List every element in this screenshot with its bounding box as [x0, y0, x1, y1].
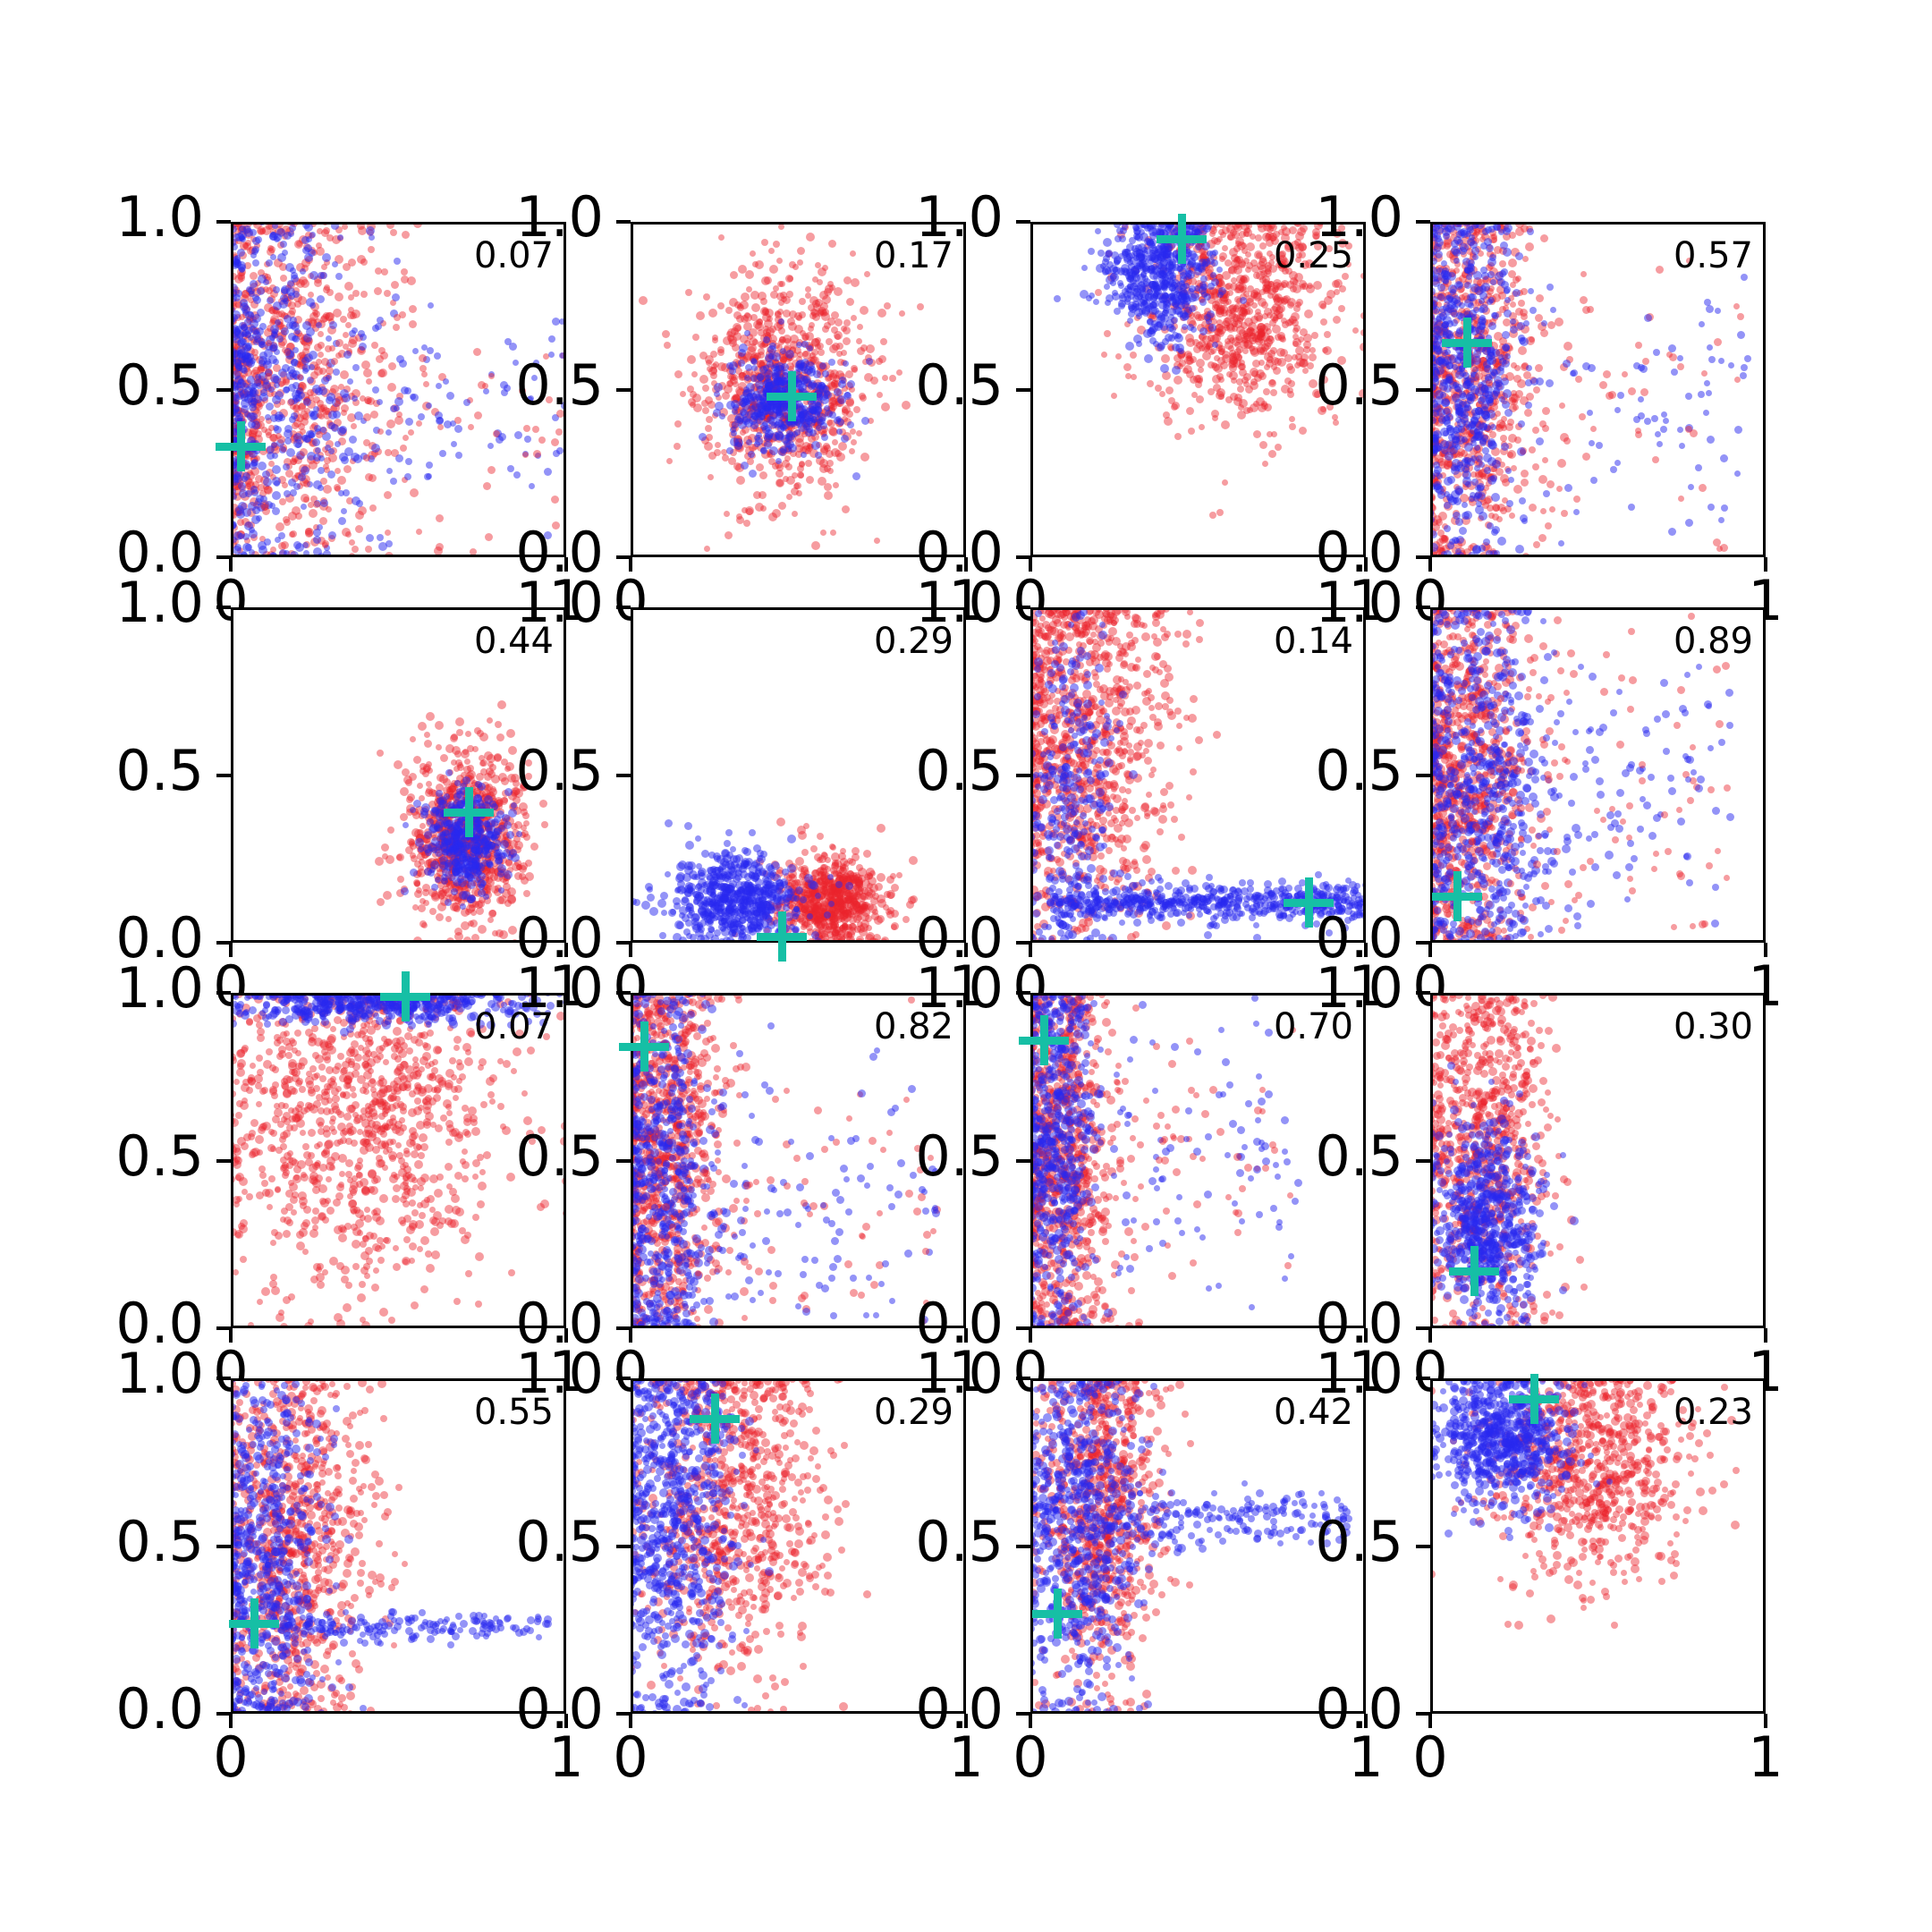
y-tick-label: 0.5: [843, 1129, 1004, 1184]
y-tick-label: 0.0: [443, 1682, 604, 1737]
y-tick-label: 0.5: [43, 743, 204, 799]
y-tick-label: 0.0: [43, 1682, 204, 1737]
y-tick-label: 1.0: [843, 961, 1004, 1016]
y-tick-mark: [616, 1377, 631, 1380]
y-tick-label: 1.0: [843, 575, 1004, 631]
y-tick-label: 1.0: [43, 575, 204, 631]
y-tick-label: 0.5: [843, 743, 1004, 799]
y-tick-label: 0.5: [43, 1514, 204, 1570]
y-tick-mark: [216, 388, 231, 392]
y-tick-mark: [216, 606, 231, 609]
y-tick-mark: [1416, 606, 1430, 609]
y-tick-mark: [616, 774, 631, 777]
y-tick-label: 0.5: [1242, 1129, 1403, 1184]
x-tick-label: 0: [1377, 1730, 1484, 1785]
y-tick-mark: [1016, 1159, 1030, 1163]
y-tick-mark: [616, 1545, 631, 1548]
y-tick-mark: [616, 388, 631, 392]
y-tick-mark: [616, 220, 631, 224]
y-tick-mark: [1016, 991, 1030, 995]
y-tick-mark: [1416, 774, 1430, 777]
y-tick-label: 0.0: [843, 1682, 1004, 1737]
y-tick-label: 1.0: [843, 190, 1004, 245]
panel-annotation: 0.89: [1674, 623, 1753, 659]
y-tick-label: 1.0: [1242, 1346, 1403, 1402]
x-tick-label: 0: [177, 1730, 284, 1785]
y-tick-label: 1.0: [443, 575, 604, 631]
y-tick-label: 1.0: [43, 961, 204, 1016]
y-tick-mark: [1016, 1377, 1030, 1380]
y-tick-label: 1.0: [443, 190, 604, 245]
y-tick-mark: [616, 991, 631, 995]
y-tick-mark: [1416, 991, 1430, 995]
scatter-panel-r1-c3: 0.89: [1430, 607, 1766, 943]
y-tick-mark: [616, 1159, 631, 1163]
y-tick-mark: [1416, 1545, 1430, 1548]
y-tick-mark: [1016, 388, 1030, 392]
y-tick-mark: [1016, 220, 1030, 224]
y-tick-label: 0.5: [1242, 358, 1403, 413]
y-tick-label: 0.5: [443, 1514, 604, 1570]
panel-annotation: 0.57: [1674, 238, 1753, 274]
y-tick-label: 1.0: [443, 1346, 604, 1402]
y-tick-label: 0.5: [43, 1129, 204, 1184]
y-tick-mark: [1016, 606, 1030, 609]
y-tick-mark: [216, 774, 231, 777]
x-tick-label: 0: [977, 1730, 1084, 1785]
y-tick-mark: [1416, 1159, 1430, 1163]
y-tick-label: 1.0: [43, 1346, 204, 1402]
scatter-panel-r0-c3: 0.57: [1430, 222, 1766, 557]
x-tick-label: 0: [577, 1730, 684, 1785]
x-tick-label: 1: [1712, 1730, 1819, 1785]
y-tick-mark: [216, 1159, 231, 1163]
y-tick-label: 0.5: [1242, 743, 1403, 799]
y-tick-mark: [216, 991, 231, 995]
y-tick-label: 1.0: [443, 961, 604, 1016]
y-tick-label: 1.0: [1242, 575, 1403, 631]
y-tick-mark: [216, 1377, 231, 1380]
panel-annotation: 0.23: [1674, 1394, 1753, 1430]
y-tick-mark: [216, 220, 231, 224]
y-tick-label: 0.5: [843, 358, 1004, 413]
y-tick-label: 0.0: [1242, 1682, 1403, 1737]
y-tick-label: 1.0: [1242, 961, 1403, 1016]
y-tick-mark: [1416, 220, 1430, 224]
y-tick-label: 0.5: [443, 743, 604, 799]
y-tick-mark: [1016, 1545, 1030, 1548]
figure-canvas: 0.070.00.51.0010.170.00.51.0010.250.00.5…: [0, 0, 1932, 1932]
y-tick-mark: [216, 1545, 231, 1548]
y-tick-label: 0.5: [443, 358, 604, 413]
y-tick-mark: [1016, 774, 1030, 777]
panel-annotation: 0.30: [1674, 1009, 1753, 1045]
y-tick-label: 0.5: [43, 358, 204, 413]
y-tick-label: 0.5: [1242, 1514, 1403, 1570]
scatter-panel-r2-c3: 0.30: [1430, 993, 1766, 1328]
y-tick-label: 1.0: [1242, 190, 1403, 245]
y-tick-mark: [1416, 1377, 1430, 1380]
y-tick-label: 1.0: [843, 1346, 1004, 1402]
y-tick-label: 0.5: [443, 1129, 604, 1184]
y-tick-label: 0.5: [843, 1514, 1004, 1570]
y-tick-mark: [616, 606, 631, 609]
y-tick-label: 1.0: [43, 190, 204, 245]
y-tick-mark: [1416, 388, 1430, 392]
scatter-panel-r3-c3: 0.23: [1430, 1378, 1766, 1714]
